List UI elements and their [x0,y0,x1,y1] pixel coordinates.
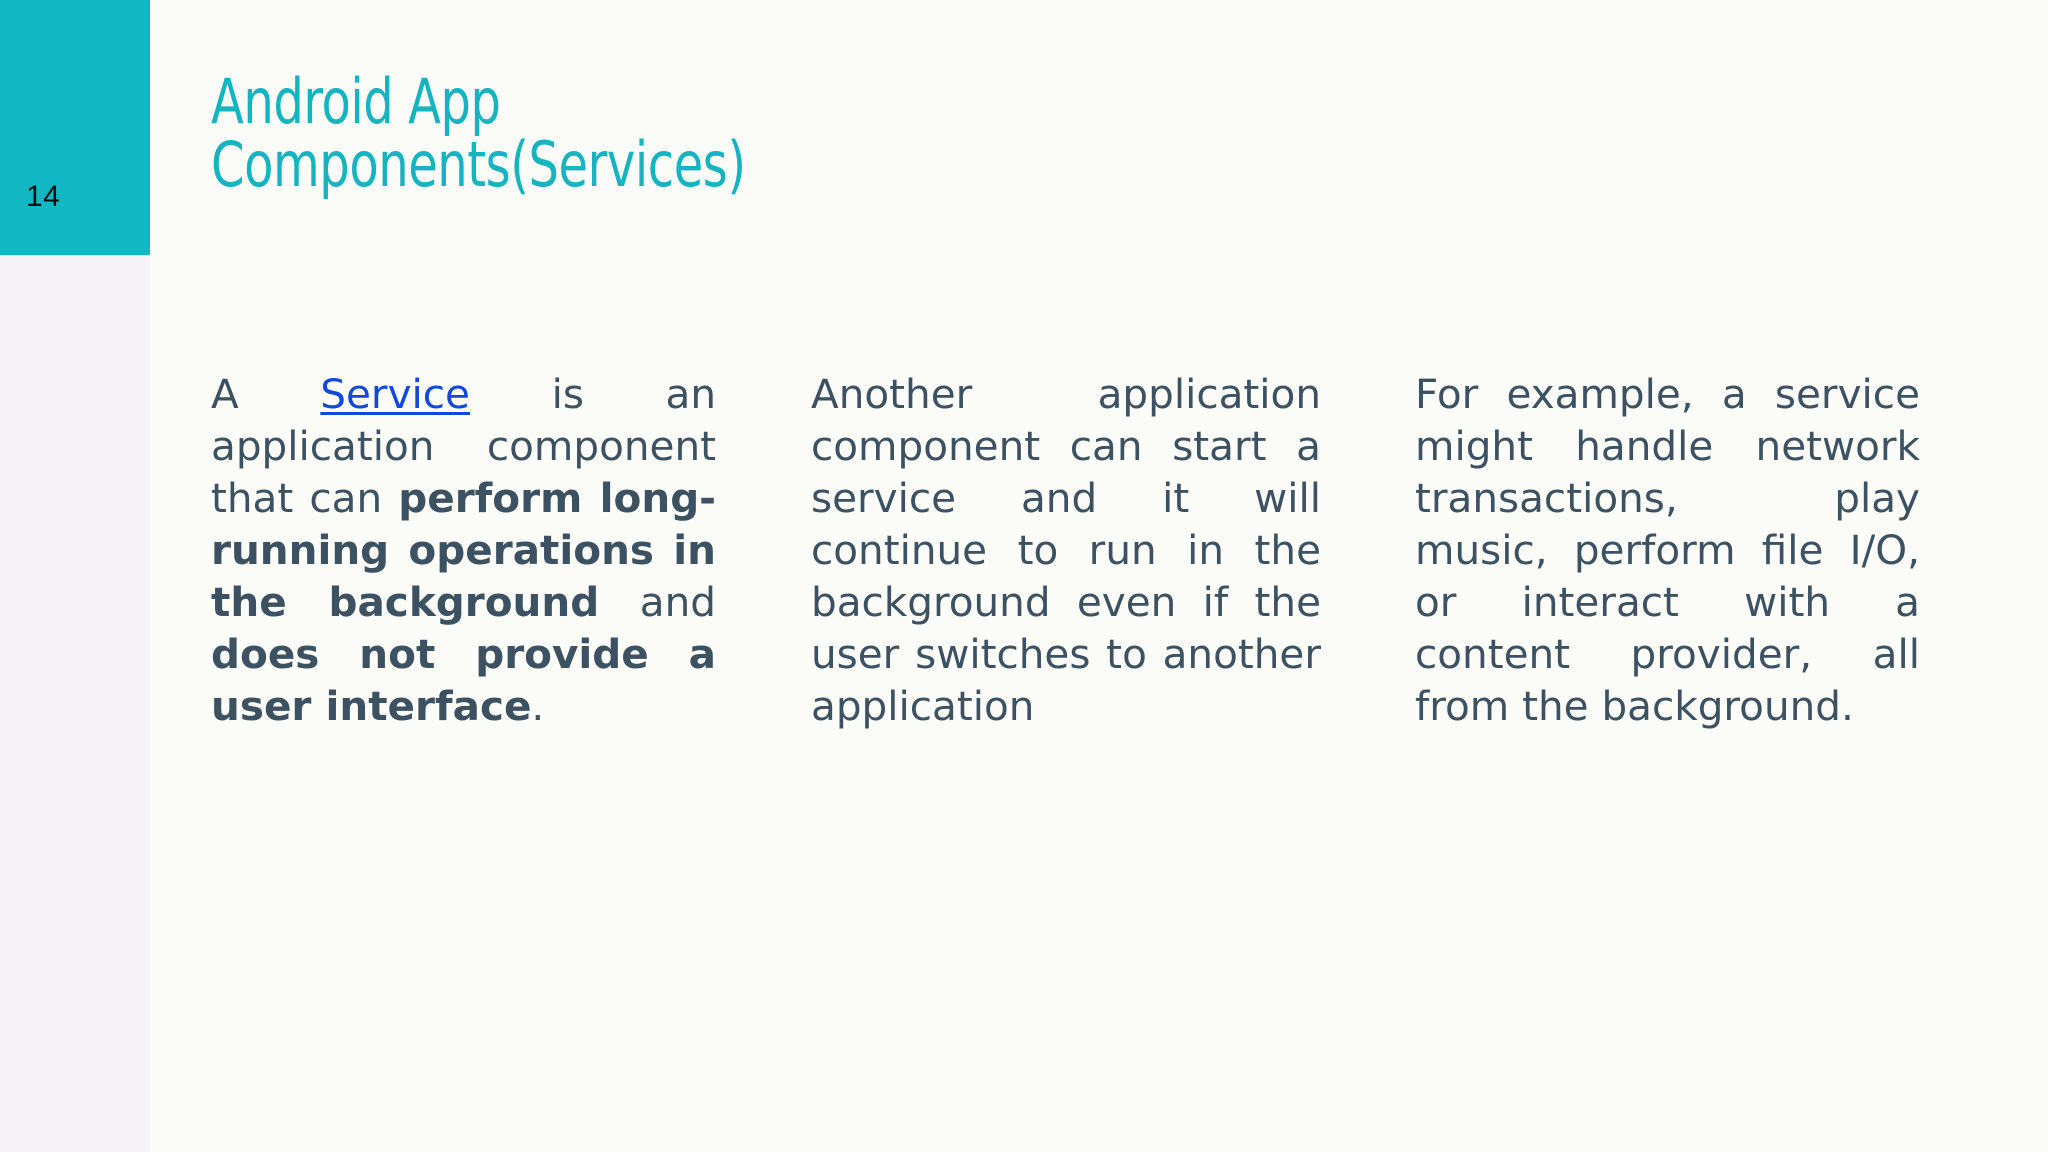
page-title: Android App Components(Services) [211,70,1157,196]
text-column-3: For example, a service might handle netw… [1415,368,1920,732]
sidebar: 14 [0,0,150,1152]
seg-text: . [531,682,544,730]
main-content: Android App Components(Services) A Servi… [150,0,2048,1152]
paragraph-1: A Service is an application component th… [211,368,716,732]
paragraph-2: Another application component can start … [811,368,1321,732]
slide-number: 14 [26,182,60,212]
text-columns: A Service is an application component th… [150,368,2048,732]
paragraph-3: For example, a service might handle netw… [1415,368,1920,732]
service-link[interactable]: Service [320,370,470,418]
seg-text: and [599,578,716,626]
text-column-2: Another application component can start … [811,368,1321,732]
seg-bold: does not provide a user interface [211,630,716,730]
text-column-1: A Service is an application component th… [211,368,716,732]
seg-text: A [211,370,320,418]
slide: 14 Android App Components(Services) A Se… [0,0,2048,1152]
slide-number-badge: 14 [0,0,150,255]
